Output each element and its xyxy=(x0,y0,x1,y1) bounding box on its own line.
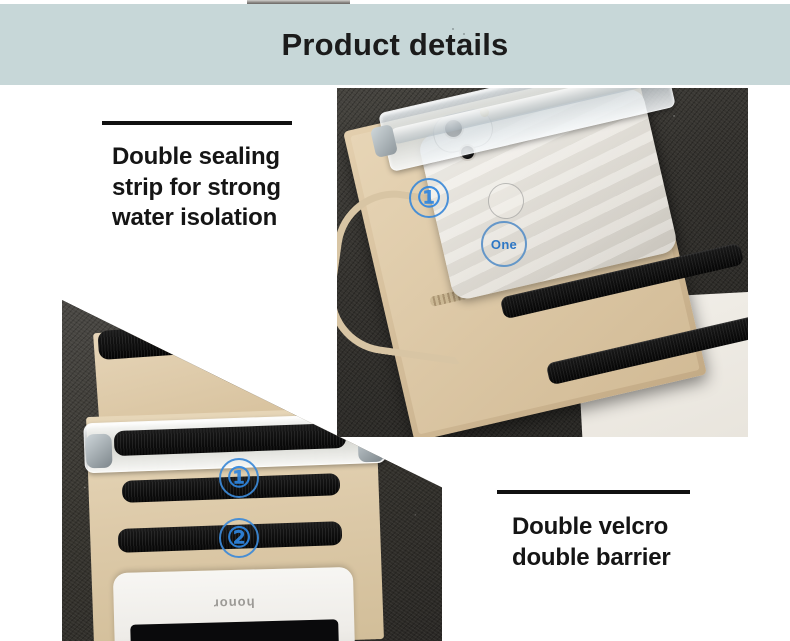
header-band: Product details xyxy=(0,4,790,85)
caption-right-text: Double velcro double barrier xyxy=(512,512,762,573)
marker-circle-two-photo-b: ② xyxy=(219,518,259,558)
photo-b-top-flap xyxy=(93,315,365,427)
marker-label: One xyxy=(491,237,517,252)
marker-label: ① xyxy=(226,464,251,492)
caption-left-line-2: strip for strong xyxy=(112,173,342,204)
caption-right-line-2: double barrier xyxy=(512,543,762,574)
photo-b-flap-velcro xyxy=(97,313,360,360)
page-title: Product details xyxy=(0,4,790,85)
caption-left-rule xyxy=(102,121,292,125)
marker-label: ① xyxy=(416,184,441,212)
marker-one-badge: One xyxy=(481,221,527,267)
caption-left-line-1: Double sealing xyxy=(112,142,342,173)
marker-label: ② xyxy=(226,524,251,552)
marker-circle-one-photo-b: ① xyxy=(219,458,259,498)
photo-b-phone: honor xyxy=(113,567,355,641)
product-details-page: Product details honor xyxy=(0,0,790,641)
caption-right-rule xyxy=(497,490,690,494)
caption-left-text: Double sealing strip for strong water is… xyxy=(112,142,342,234)
caption-left-line-3: water isolation xyxy=(112,203,342,234)
photo-b-phone-screen xyxy=(130,619,339,641)
caption-right-line-1: Double velcro xyxy=(512,512,762,543)
photo-b-phone-brand-logo: honor xyxy=(114,593,354,614)
marker-circle-one-photo-a: ① xyxy=(409,178,449,218)
photo-pouch-sealed xyxy=(337,88,748,437)
photo-b-seal-lock-left xyxy=(85,434,112,469)
